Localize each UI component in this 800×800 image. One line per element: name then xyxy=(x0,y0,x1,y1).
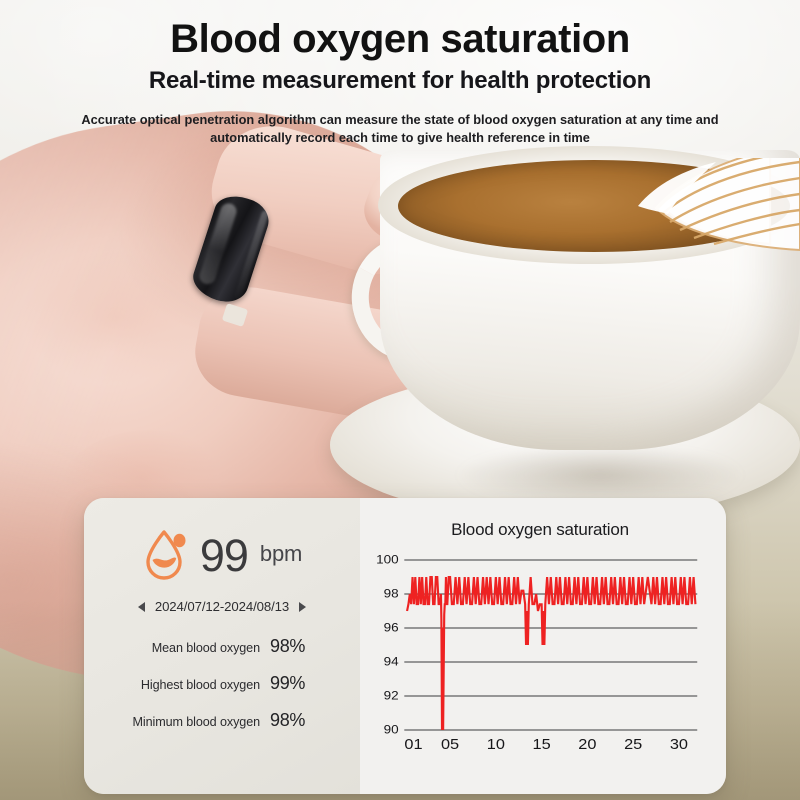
svg-text:30: 30 xyxy=(670,737,688,753)
coffee-surface xyxy=(398,160,790,252)
prev-range-icon[interactable] xyxy=(138,602,145,612)
svg-text:20: 20 xyxy=(578,737,596,753)
svg-text:100: 100 xyxy=(376,552,399,566)
stat-value: 99% xyxy=(270,673,330,694)
knuckle-highlight xyxy=(10,250,220,400)
chart-panel: Blood oxygen saturation 9092949698100010… xyxy=(360,498,726,794)
svg-text:92: 92 xyxy=(384,688,399,702)
hero-reading-row: 99 bpm xyxy=(98,528,346,582)
svg-text:25: 25 xyxy=(624,737,642,753)
page-description: Accurate optical penetration algorithm c… xyxy=(80,111,720,147)
svg-text:98: 98 xyxy=(384,586,399,600)
stat-label: Mean blood oxygen xyxy=(114,641,260,655)
svg-text:05: 05 xyxy=(441,737,459,753)
product-marketing-page: Blood oxygen saturation Real-time measur… xyxy=(0,0,800,800)
headline-block: Blood oxygen saturation Real-time measur… xyxy=(0,0,800,148)
stat-label: Highest blood oxygen xyxy=(114,678,260,692)
svg-text:96: 96 xyxy=(384,620,399,634)
blood-oxygen-dashboard-card: 99 bpm 2024/07/12-2024/08/13 Mean blood … xyxy=(84,498,726,794)
next-range-icon[interactable] xyxy=(299,602,306,612)
stat-row: Minimum blood oxygen 98% xyxy=(98,710,346,731)
svg-text:90: 90 xyxy=(384,722,399,736)
stat-value: 98% xyxy=(270,710,330,731)
page-title: Blood oxygen saturation xyxy=(0,0,800,61)
blood-drop-icon xyxy=(142,528,188,582)
stat-label: Minimum blood oxygen xyxy=(114,715,260,729)
stats-list: Mean blood oxygen 98% Highest blood oxyg… xyxy=(98,636,346,731)
stat-row: Highest blood oxygen 99% xyxy=(98,673,346,694)
hero-unit: bpm xyxy=(260,541,302,570)
summary-panel: 99 bpm 2024/07/12-2024/08/13 Mean blood … xyxy=(84,498,360,794)
hero-value: 99 xyxy=(200,533,248,578)
date-range-label: 2024/07/12-2024/08/13 xyxy=(155,599,289,614)
page-subtitle: Real-time measurement for health protect… xyxy=(0,67,800,95)
stat-value: 98% xyxy=(270,636,330,657)
date-range-nav: 2024/07/12-2024/08/13 xyxy=(98,599,346,614)
spo2-chart[interactable]: 909294969810001051015202530 xyxy=(366,552,704,760)
svg-text:10: 10 xyxy=(487,737,505,753)
stat-row: Mean blood oxygen 98% xyxy=(98,636,346,657)
svg-text:94: 94 xyxy=(384,654,399,668)
chart-title: Blood oxygen saturation xyxy=(366,520,704,540)
crema-ring xyxy=(398,160,790,252)
svg-text:15: 15 xyxy=(533,737,551,753)
svg-text:01: 01 xyxy=(404,737,422,753)
